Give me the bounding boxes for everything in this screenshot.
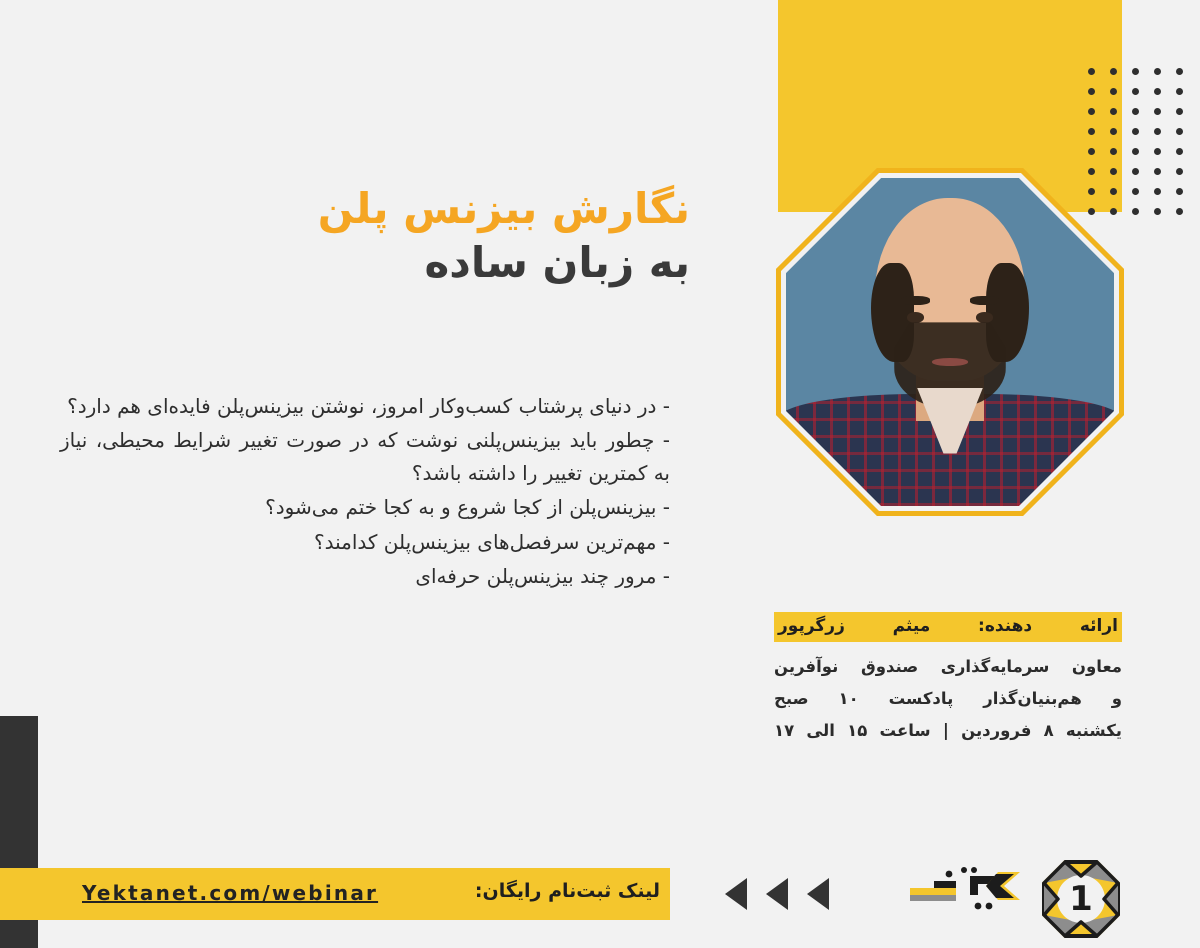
dot bbox=[1132, 68, 1139, 75]
list-item: - چطور باید بیزینس‌پلنی نوشت که در صورت … bbox=[60, 424, 670, 489]
speaker-photo bbox=[776, 168, 1124, 516]
dot bbox=[1132, 128, 1139, 135]
portrait-eye-right bbox=[976, 312, 993, 322]
registration-label: لینک ثبت‌نام رایگان: bbox=[475, 880, 660, 902]
page-title: نگارش بیزنس پلن به زبان ساده bbox=[260, 182, 690, 290]
list-item: - مهم‌ترین سرفصل‌های بیزینس‌پلن کدامند؟ bbox=[60, 526, 670, 558]
dot bbox=[1110, 148, 1117, 155]
dot bbox=[1154, 188, 1161, 195]
dot bbox=[1088, 128, 1095, 135]
badge-icon: 1 bbox=[1042, 860, 1120, 938]
badge-number: 1 bbox=[1042, 860, 1120, 938]
triangle-left-icon bbox=[766, 878, 788, 910]
dot bbox=[1088, 88, 1095, 95]
event-datetime: یکشنبه ۸ فروردین | ساعت ۱۵ الی ۱۷ bbox=[774, 715, 1122, 747]
dot bbox=[1176, 148, 1183, 155]
dot bbox=[1154, 108, 1161, 115]
dot bbox=[1176, 108, 1183, 115]
portrait-brow-right bbox=[970, 296, 1000, 305]
dot bbox=[1176, 68, 1183, 75]
dot bbox=[1132, 208, 1139, 215]
dot bbox=[1132, 188, 1139, 195]
dot bbox=[1176, 208, 1183, 215]
headline-line-1: نگارش بیزنس پلن bbox=[260, 182, 690, 236]
list-item: - در دنیای پرشتاب کسب‌وکار امروز، نوشتن … bbox=[60, 390, 670, 422]
list-item: - مرور چند بیزینس‌پلن حرفه‌ای bbox=[60, 560, 670, 592]
dot bbox=[1088, 108, 1095, 115]
dot bbox=[1176, 168, 1183, 175]
triangle-left-icon bbox=[807, 878, 829, 910]
speaker-name-badge: ارائه دهنده: میثم زرگرپور bbox=[774, 612, 1122, 642]
yektanet-wordmark-icon bbox=[908, 862, 1024, 914]
dot bbox=[1110, 68, 1117, 75]
dot bbox=[1154, 88, 1161, 95]
dot bbox=[1154, 168, 1161, 175]
dot bbox=[1132, 88, 1139, 95]
speaker-role-line-2: و هم‌بنیان‌گذار پادکست ۱۰ صبح bbox=[774, 683, 1122, 715]
dot bbox=[1154, 208, 1161, 215]
dot bbox=[1154, 68, 1161, 75]
portrait-brow-left bbox=[901, 296, 931, 305]
dot bbox=[1176, 188, 1183, 195]
avatar bbox=[786, 178, 1114, 506]
dot bbox=[1110, 88, 1117, 95]
dot bbox=[1154, 128, 1161, 135]
arrow-decoration bbox=[725, 878, 829, 910]
triangle-left-icon bbox=[725, 878, 747, 910]
headline-line-2: به زبان ساده bbox=[260, 236, 690, 290]
topics-list: - در دنیای پرشتاب کسب‌وکار امروز، نوشتن … bbox=[60, 390, 670, 594]
dot bbox=[1088, 68, 1095, 75]
list-item: - بیزینس‌پلن از کجا شروع و به کجا ختم می… bbox=[60, 491, 670, 523]
webinar-poster: نگارش بیزنس پلن به زبان ساده - در دنیای … bbox=[0, 0, 1200, 948]
speaker-details: معاون سرمایه‌گذاری صندوق نوآفرین و هم‌بن… bbox=[774, 651, 1122, 746]
dot bbox=[1132, 168, 1139, 175]
registration-link[interactable]: Yektanet.com/webinar bbox=[82, 881, 378, 905]
dot bbox=[1132, 108, 1139, 115]
dot bbox=[1110, 108, 1117, 115]
speaker-role-line-1: معاون سرمایه‌گذاری صندوق نوآفرین bbox=[774, 651, 1122, 683]
speaker-info: ارائه دهنده: میثم زرگرپور معاون سرمایه‌گ… bbox=[774, 612, 1122, 746]
brand-logo: 1 bbox=[908, 860, 1120, 940]
dot bbox=[1154, 148, 1161, 155]
dot bbox=[1088, 148, 1095, 155]
portrait-mouth bbox=[932, 358, 968, 365]
dot bbox=[1176, 88, 1183, 95]
dot bbox=[1176, 128, 1183, 135]
dot bbox=[1110, 128, 1117, 135]
dot bbox=[1132, 148, 1139, 155]
